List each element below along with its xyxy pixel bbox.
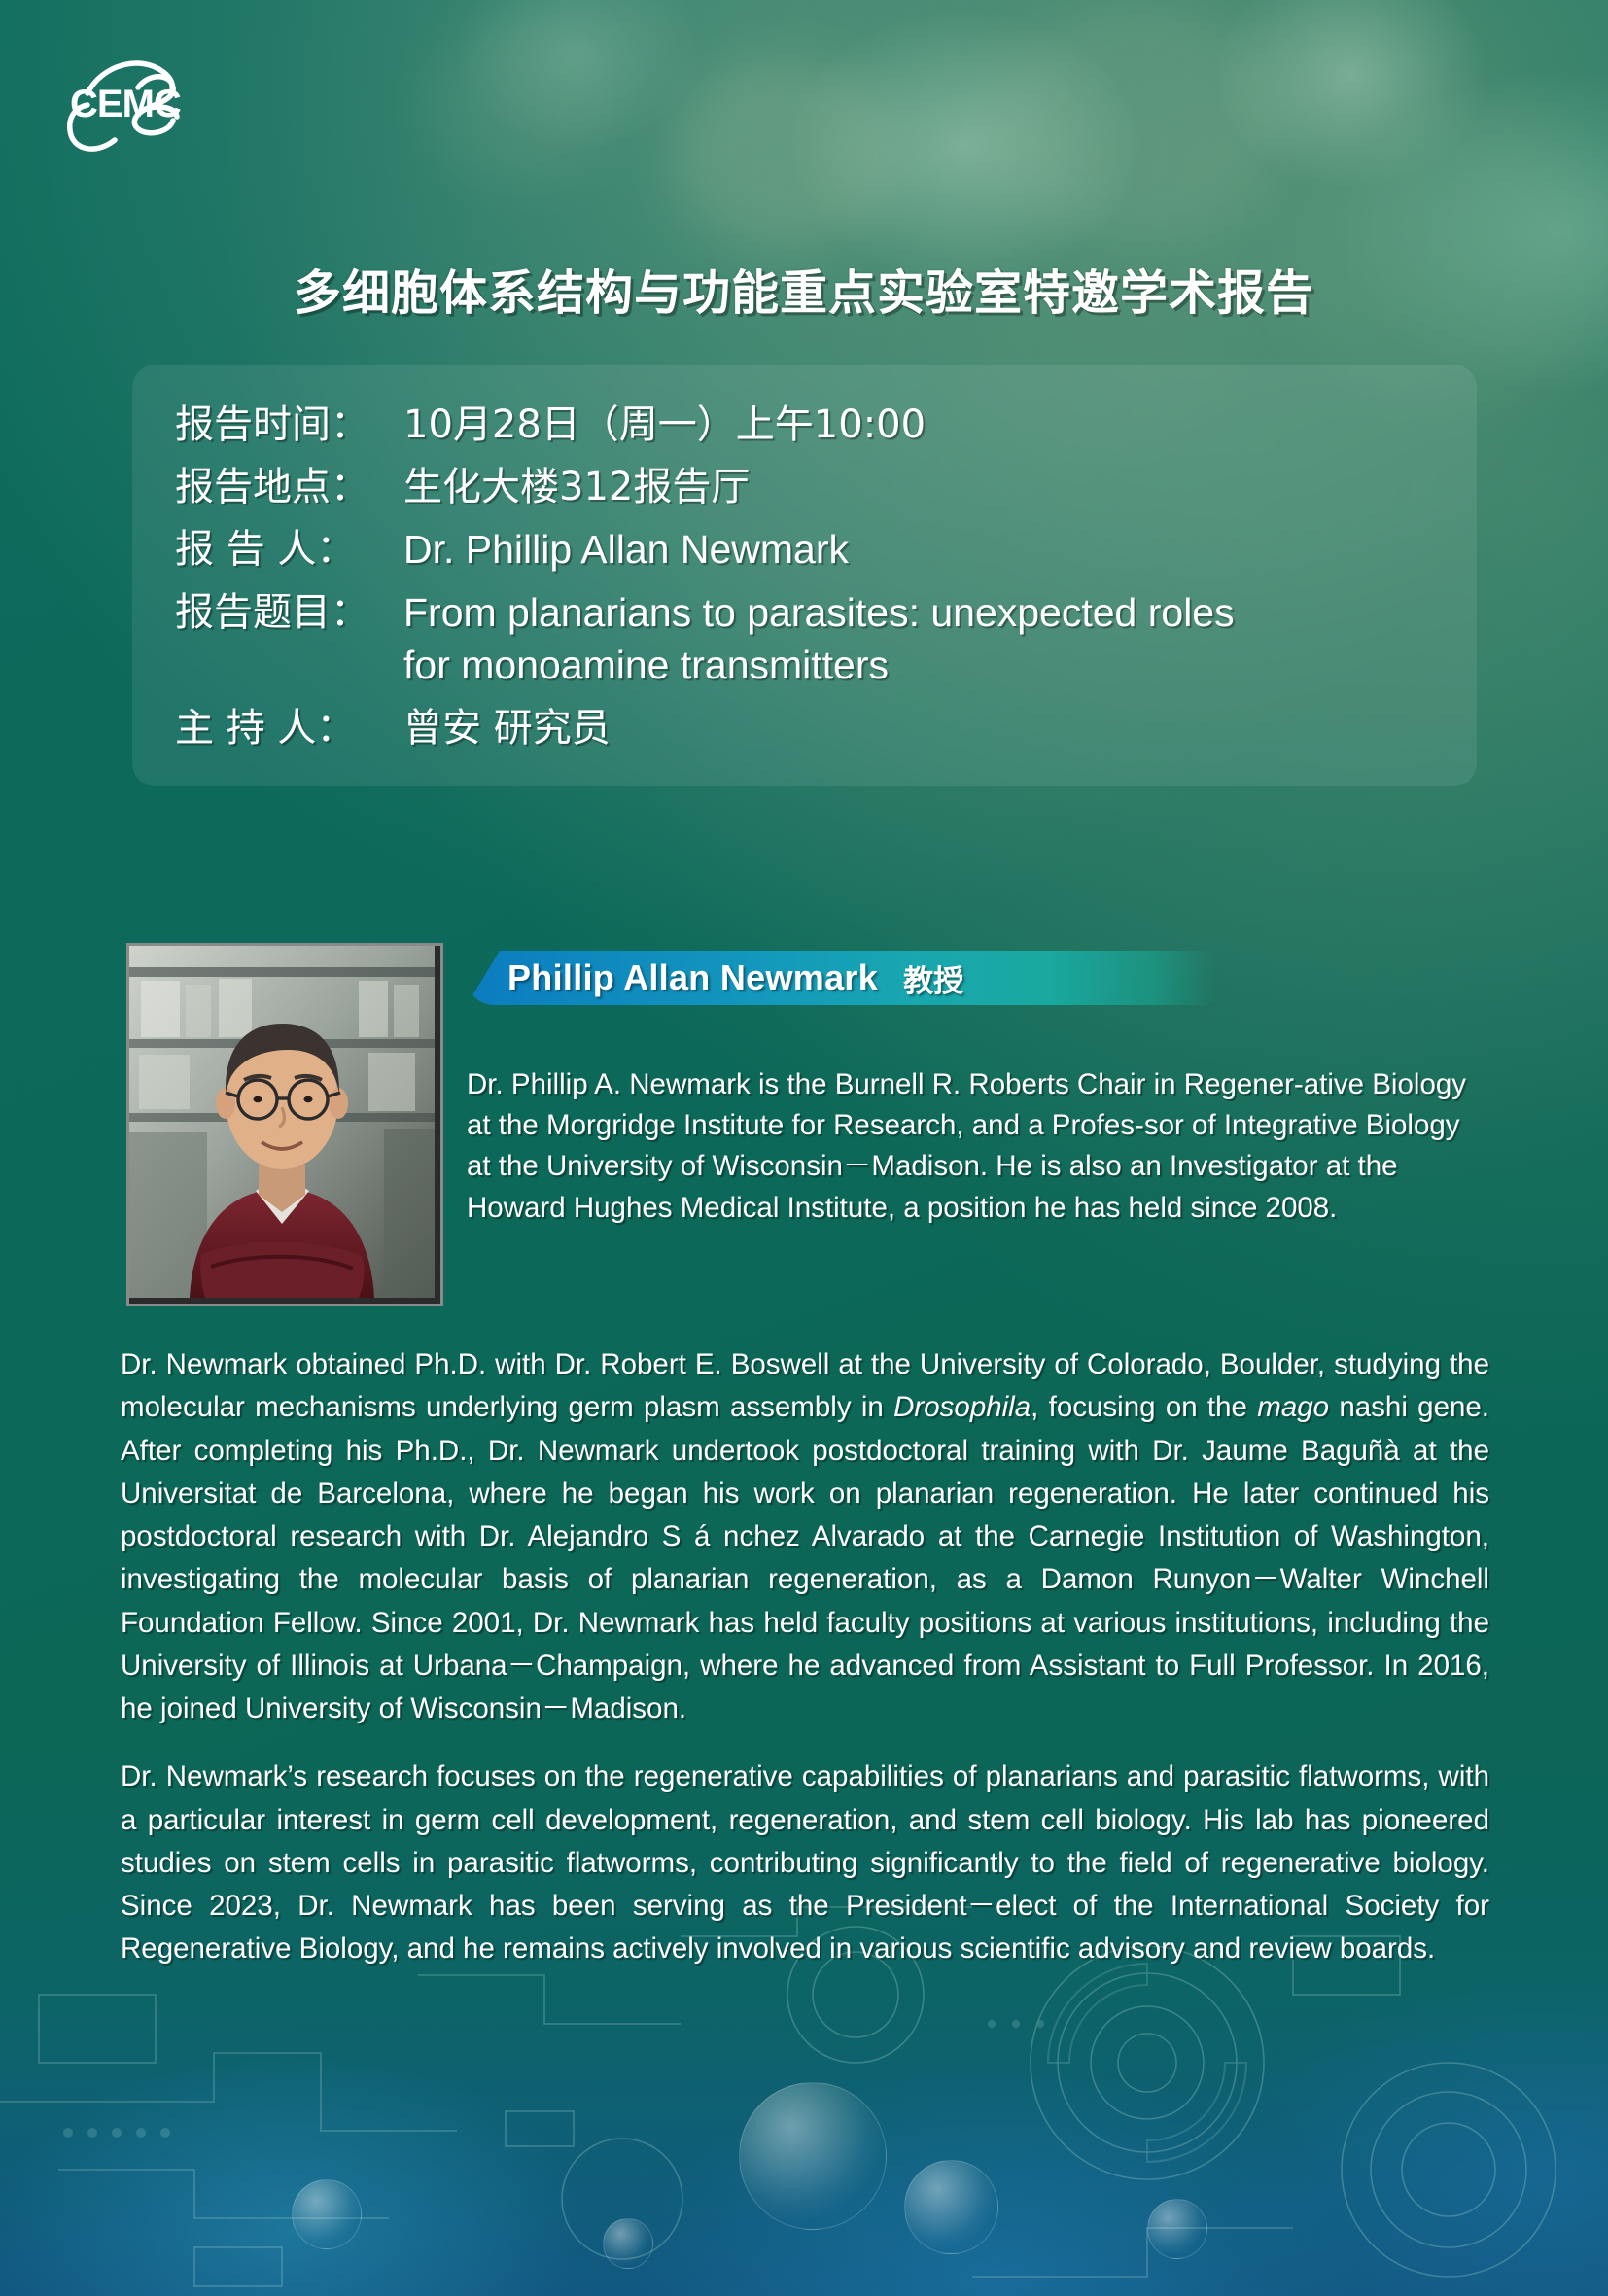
poster-root: CEMC 多细胞体系结构与功能重点实验室特邀学术报告 报告时间： 10月28日（… bbox=[0, 0, 1608, 2296]
info-value-speaker: Dr. Phillip Allan Newmark bbox=[403, 524, 1434, 575]
info-row-speaker: 报 告 人： Dr. Phillip Allan Newmark bbox=[132, 524, 1477, 575]
bio-p2-c: nashi gene. After completing his Ph.D., … bbox=[121, 1391, 1489, 1724]
info-value-host: 曾安 研究员 bbox=[403, 703, 1434, 753]
event-info-card: 报告时间： 10月28日（周一）上午10:00 报告地点： 生化大楼312报告厅… bbox=[132, 365, 1477, 786]
info-row-topic: 报告题目： From planarians to parasites: unex… bbox=[132, 587, 1477, 691]
page-title: 多细胞体系结构与功能重点实验室特邀学术报告 bbox=[0, 255, 1608, 324]
info-label-speaker: 报 告 人： bbox=[175, 524, 403, 574]
info-row-host: 主 持 人： 曾安 研究员 bbox=[132, 703, 1477, 753]
speaker-bio-intro: Dr. Phillip A. Newmark is the Burnell R.… bbox=[467, 1064, 1478, 1229]
cemc-logo-icon: CEMC bbox=[49, 47, 233, 173]
info-value-time: 10月28日（周一）上午10:00 bbox=[403, 400, 1434, 450]
cemc-logo-text: CEMC bbox=[70, 83, 181, 125]
info-value-topic-line1: From planarians to parasites: unexpected… bbox=[403, 590, 1235, 635]
bio-p2-b: , focusing on the bbox=[1031, 1391, 1257, 1423]
speaker-bio-body: Dr. Newmark obtained Ph.D. with Dr. Robe… bbox=[121, 1343, 1489, 1971]
speaker-title: 教授 bbox=[903, 957, 963, 1000]
info-value-topic: From planarians to parasites: unexpected… bbox=[403, 587, 1434, 691]
bio-paragraph-3: Dr. Newmark’s research focuses on the re… bbox=[121, 1756, 1489, 1970]
info-label-location: 报告地点： bbox=[175, 462, 403, 512]
speaker-portrait-image bbox=[129, 946, 435, 1298]
info-row-time: 报告时间： 10月28日（周一）上午10:00 bbox=[132, 400, 1477, 450]
bio-p2-em-mago: mago bbox=[1257, 1391, 1329, 1423]
info-value-location: 生化大楼312报告厅 bbox=[403, 462, 1434, 512]
bio-p2-em-drosophila: Drosophila bbox=[893, 1391, 1031, 1423]
speaker-portrait bbox=[126, 943, 443, 1306]
speaker-name-banner: Phillip Allan Newmark 教授 bbox=[467, 951, 1215, 1005]
info-label-time: 报告时间： bbox=[175, 400, 403, 450]
cemc-logo: CEMC bbox=[49, 47, 233, 173]
info-label-host: 主 持 人： bbox=[175, 703, 403, 753]
info-label-topic: 报告题目： bbox=[175, 587, 403, 638]
bio-paragraph-2: Dr. Newmark obtained Ph.D. with Dr. Robe… bbox=[121, 1343, 1489, 1730]
info-row-location: 报告地点： 生化大楼312报告厅 bbox=[132, 462, 1477, 512]
info-value-topic-line2: for monoamine transmitters bbox=[403, 640, 1434, 691]
speaker-name: Phillip Allan Newmark bbox=[507, 957, 878, 998]
